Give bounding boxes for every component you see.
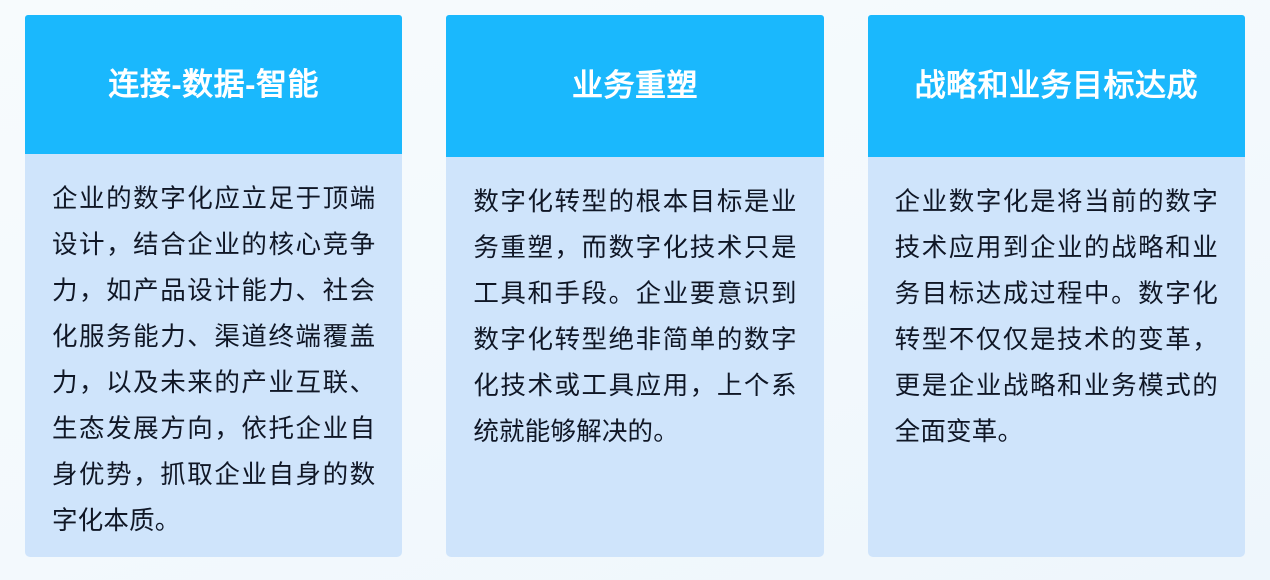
card-business-reshaping: 业务重塑 数字化转型的根本目标是业务重塑，而数字化技术只是工具和手段。企业要意识…: [446, 15, 823, 557]
card-text-3: 企业数字化是将当前的数字技术应用到企业的战略和业务目标达成过程中。数字化转型不仅…: [895, 179, 1218, 455]
card-text-2: 数字化转型的根本目标是业务重塑，而数字化技术只是工具和手段。企业要意识到数字化转…: [473, 179, 796, 455]
card-connect-data-intelligence: 连接-数据-智能 企业的数字化应立足于顶端设计，结合企业的核心竞争力，如产品设计…: [25, 15, 402, 557]
three-card-board: 连接-数据-智能 企业的数字化应立足于顶端设计，结合企业的核心竞争力，如产品设计…: [0, 0, 1270, 580]
card-header-2: 业务重塑: [446, 15, 823, 157]
card-text-1: 企业的数字化应立足于顶端设计，结合企业的核心竞争力，如产品设计能力、社会化服务能…: [52, 176, 375, 544]
card-title-2: 业务重塑: [572, 67, 698, 104]
card-strategy-business-goals: 战略和业务目标达成 企业数字化是将当前的数字技术应用到企业的战略和业务目标达成过…: [868, 15, 1245, 557]
card-header-1: 连接-数据-智能: [25, 15, 402, 154]
card-header-3: 战略和业务目标达成: [868, 15, 1245, 157]
card-title-3: 战略和业务目标达成: [915, 67, 1199, 104]
card-body-1: 企业的数字化应立足于顶端设计，结合企业的核心竞争力，如产品设计能力、社会化服务能…: [25, 154, 402, 557]
card-body-3: 企业数字化是将当前的数字技术应用到企业的战略和业务目标达成过程中。数字化转型不仅…: [868, 157, 1245, 557]
card-title-1: 连接-数据-智能: [108, 66, 319, 103]
card-body-2: 数字化转型的根本目标是业务重塑，而数字化技术只是工具和手段。企业要意识到数字化转…: [446, 157, 823, 557]
